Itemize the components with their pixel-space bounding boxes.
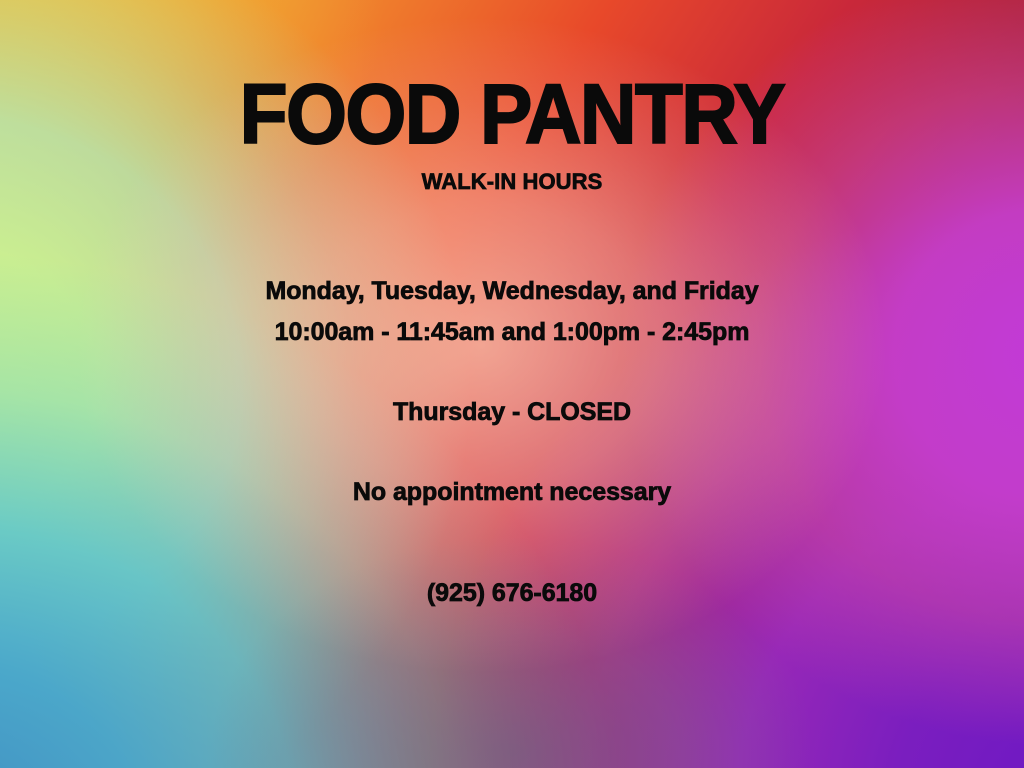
contact-phone-number: (925) 676-6180 bbox=[0, 581, 1024, 606]
page-title: FOOD PANTRY bbox=[36, 72, 988, 156]
food-pantry-poster: FOOD PANTRY WALK-IN HOURS Monday, Tuesda… bbox=[0, 0, 1024, 768]
page-subtitle: WALK-IN HOURS bbox=[0, 171, 1024, 193]
poster-content: FOOD PANTRY WALK-IN HOURS Monday, Tuesda… bbox=[0, 0, 1024, 768]
hours-open-times: 10:00am - 11:45am and 1:00pm - 2:45pm bbox=[0, 320, 1024, 345]
hours-closed-day: Thursday - CLOSED bbox=[0, 400, 1024, 425]
hours-open-days: Monday, Tuesday, Wednesday, and Friday bbox=[0, 279, 1024, 304]
appointment-note: No appointment necessary bbox=[0, 480, 1024, 505]
hours-block: Monday, Tuesday, Wednesday, and Friday 1… bbox=[0, 279, 1024, 606]
